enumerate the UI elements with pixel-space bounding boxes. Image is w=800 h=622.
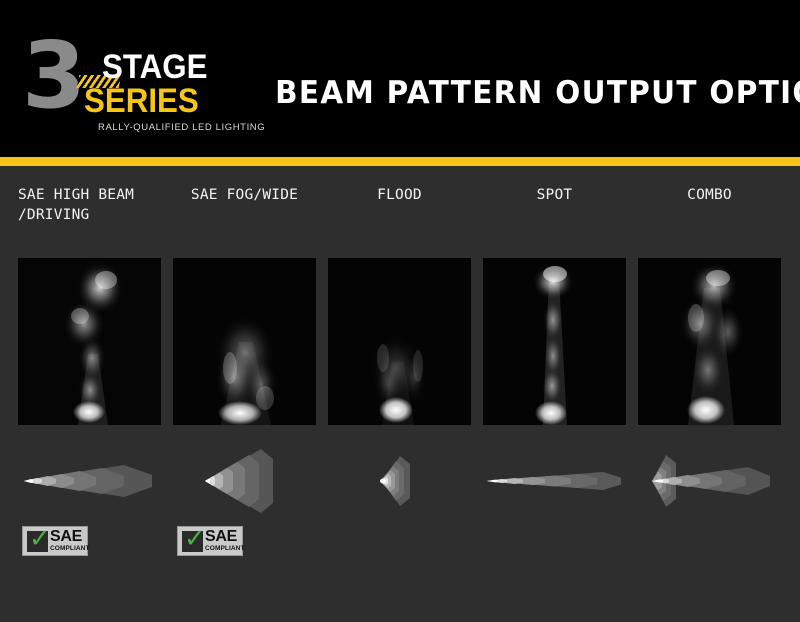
check-icon: ✓	[29, 526, 51, 552]
sae-badge-title: SAE	[50, 529, 82, 545]
beam-column-fog-wide[interactable]: SAE FOG/WIDE	[173, 166, 316, 622]
beam-label-line1: SPOT	[483, 185, 626, 205]
beam-label-line1: COMBO	[638, 185, 781, 205]
beam-column-label: FLOOD	[328, 185, 471, 205]
beam-column-label: SPOT	[483, 185, 626, 205]
beam-photo-driving	[18, 258, 161, 425]
logo-numeral: 3	[22, 30, 83, 122]
beam-photo-fog-wide	[173, 258, 316, 425]
logo-tagline: RALLY-QUALIFIED LED LIGHTING	[98, 122, 265, 133]
beam-label-line1: FLOOD	[328, 185, 471, 205]
check-icon: ✓	[184, 526, 206, 552]
stage-series-logo: 3 STAGE SERIES RALLY-QUALIFIED LED LIGHT…	[22, 28, 252, 133]
beam-column-driving[interactable]: SAE HIGH BEAM /DRIVING	[18, 166, 161, 622]
beam-spread-diagram-combo	[638, 445, 781, 517]
beam-photo-combo	[638, 258, 781, 425]
sae-compliant-badge: ✓ SAE COMPLIANT	[22, 526, 88, 556]
beam-column-label: SAE HIGH BEAM /DRIVING	[18, 185, 161, 225]
beam-photo-spot	[483, 258, 626, 425]
header-bar: 3 STAGE SERIES RALLY-QUALIFIED LED LIGHT…	[0, 0, 800, 157]
beam-column-flood[interactable]: FLOOD	[328, 166, 471, 622]
sae-compliant-badge: ✓ SAE COMPLIANT	[177, 526, 243, 556]
beam-column-label: COMBO	[638, 185, 781, 205]
logo-word-series: SERIES	[84, 84, 199, 118]
page-title: BEAM PATTERN OUTPUT OPTIONS	[275, 76, 773, 110]
beam-column-spot[interactable]: SPOT	[483, 166, 626, 622]
beam-spread-diagram-fog-wide	[173, 445, 316, 517]
beam-spread-diagram-flood	[328, 445, 471, 517]
sae-badge-subtitle: COMPLIANT	[205, 545, 245, 552]
beam-column-combo[interactable]: COMBO	[638, 166, 781, 622]
beam-label-line1: SAE HIGH BEAM	[18, 185, 161, 205]
sae-check-box: ✓	[27, 531, 48, 552]
beam-options-grid: SAE HIGH BEAM /DRIVING	[0, 166, 800, 622]
beam-label-line1: SAE FOG/WIDE	[173, 185, 316, 205]
beam-spread-diagram-driving	[18, 445, 161, 517]
beam-label-line2: /DRIVING	[18, 205, 161, 225]
beam-pattern-infographic: 3 STAGE SERIES RALLY-QUALIFIED LED LIGHT…	[0, 0, 800, 622]
logo-word-stage: STAGE	[102, 50, 207, 84]
beam-photo-flood	[328, 258, 471, 425]
sae-check-box: ✓	[182, 531, 203, 552]
yellow-accent-divider	[0, 157, 800, 166]
beam-column-label: SAE FOG/WIDE	[173, 185, 316, 205]
beam-spread-diagram-spot	[483, 445, 626, 517]
sae-badge-subtitle: COMPLIANT	[50, 545, 90, 552]
sae-badge-title: SAE	[205, 529, 237, 545]
